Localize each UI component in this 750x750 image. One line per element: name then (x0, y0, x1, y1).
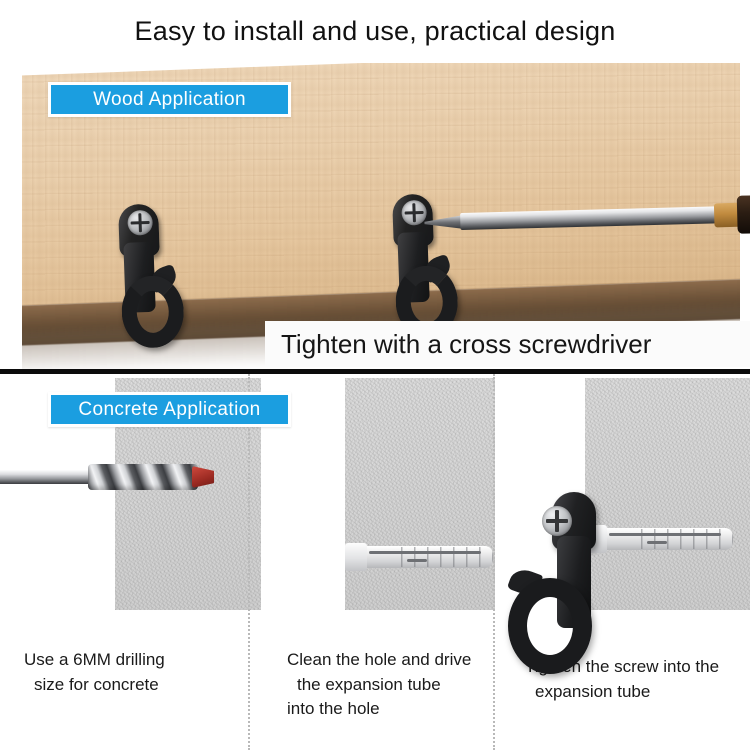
screwdriver-handle (737, 195, 750, 234)
expansion-tube-notch (647, 541, 667, 544)
badge-concrete-application: Concrete Application (48, 392, 291, 427)
caption-panel-2: Clean the hole and drive the expansion t… (287, 648, 492, 722)
expansion-tube-ribs (641, 529, 733, 549)
page-title: Easy to install and use, practical desig… (135, 16, 616, 47)
caption-line: the expansion tube (287, 673, 492, 698)
page-title-bar: Easy to install and use, practical desig… (0, 0, 750, 62)
caption-line: size for concrete (24, 673, 224, 698)
expansion-tube-slot (369, 551, 481, 554)
drill-carbide-tip (192, 466, 214, 488)
tighten-caption-text: Tighten with a cross screwdriver (281, 329, 651, 360)
phillips-screw-icon (542, 506, 572, 536)
expansion-tube-2 (345, 542, 493, 572)
caption-line: Use a 6MM drilling (24, 648, 224, 673)
caption-line: Clean the hole and drive (287, 648, 492, 673)
concrete-block-3 (585, 378, 750, 610)
product-infographic: Easy to install and use, practical desig… (0, 0, 750, 750)
section-divider-rule (0, 369, 750, 374)
expansion-tube-ribs (401, 547, 493, 567)
expansion-tube-slot (609, 533, 721, 536)
drill-shank (0, 470, 96, 484)
masonry-drill-bit (0, 460, 220, 494)
caption-panel-1: Use a 6MM drilling size for concrete (24, 648, 224, 697)
badge-concrete-label: Concrete Application (78, 399, 260, 421)
tighten-caption-band: Tighten with a cross screwdriver (265, 321, 750, 367)
badge-wood-application: Wood Application (48, 82, 291, 117)
caption-line: into the hole (287, 697, 492, 722)
badge-wood-label: Wood Application (93, 89, 246, 111)
photo-left-margin (0, 63, 22, 372)
expansion-tube-3 (585, 524, 750, 554)
hook-curl (508, 578, 592, 674)
panel-divider-2 (493, 374, 495, 750)
expansion-tube-notch (407, 559, 427, 562)
drill-flute (88, 464, 198, 490)
concrete-block-2 (345, 378, 495, 610)
expansion-tube-collar (345, 543, 367, 571)
panel-divider-1 (248, 374, 250, 750)
caption-line: expansion tube (525, 680, 740, 705)
